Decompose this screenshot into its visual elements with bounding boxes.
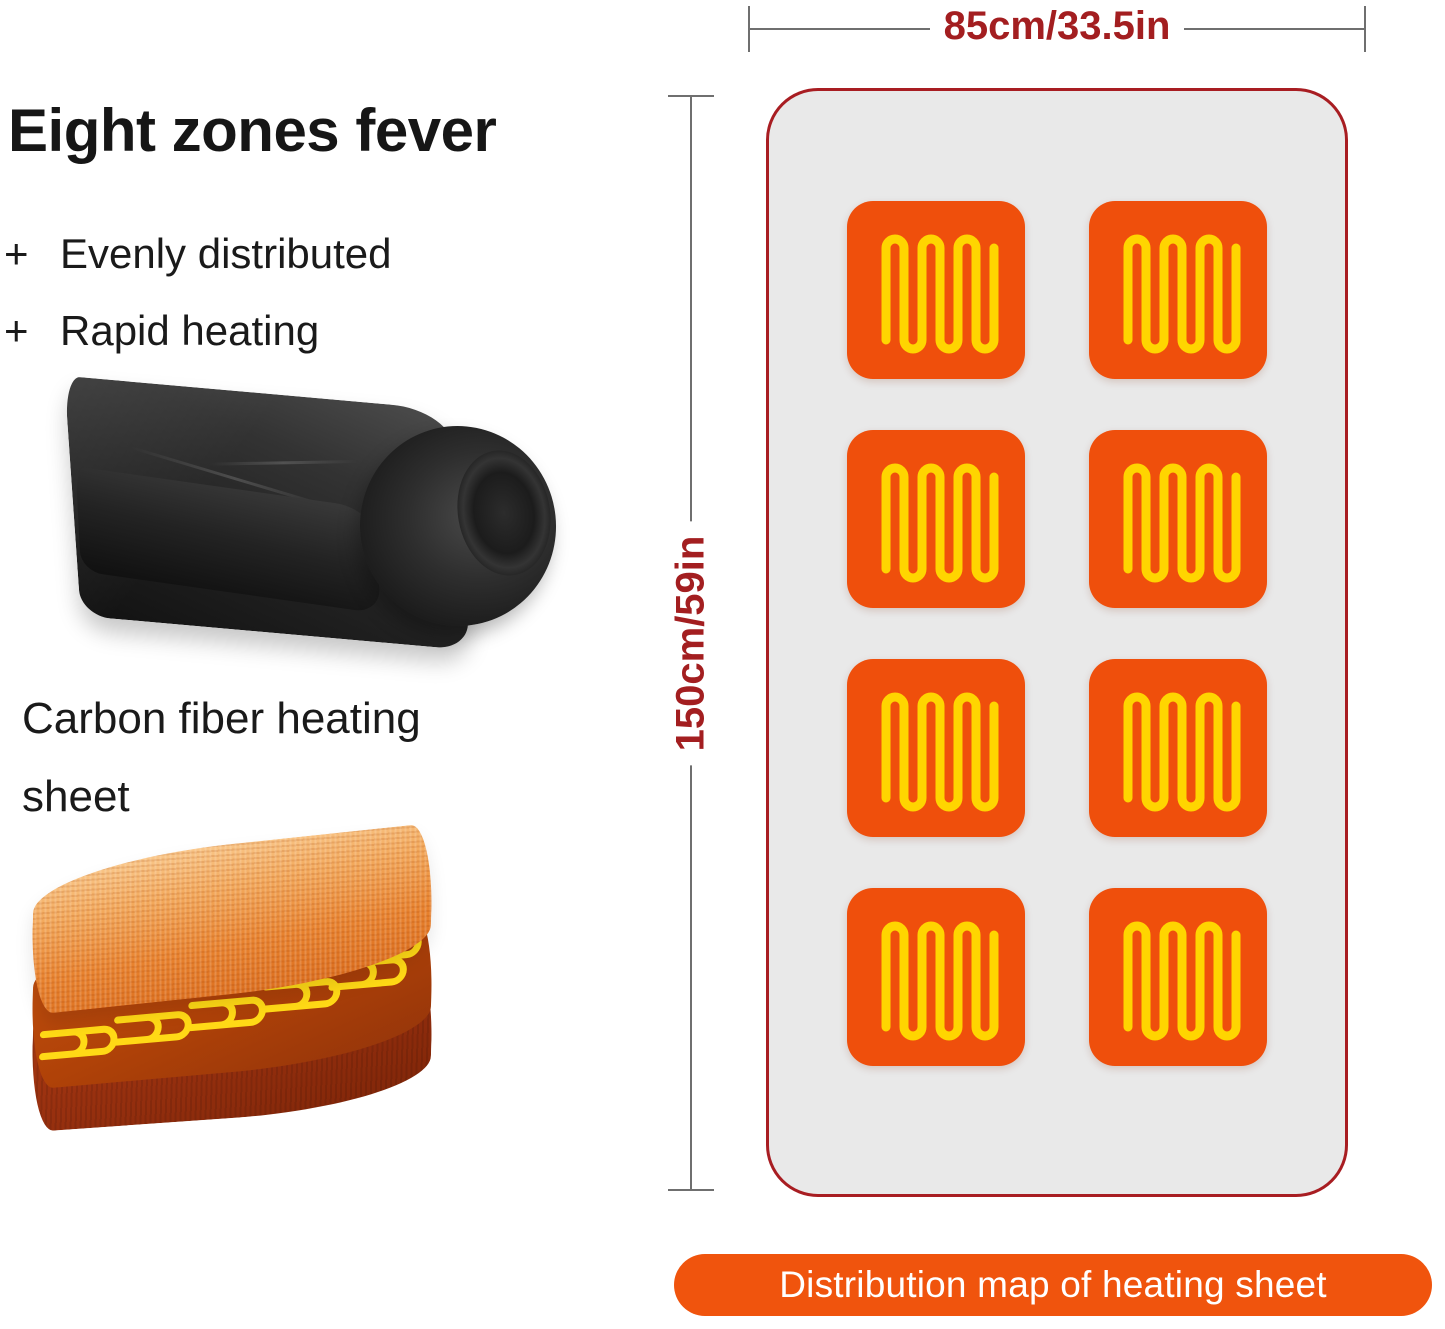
width-dimension-value: 85cm/33.5in (930, 4, 1185, 48)
feature-bullet-evenly-distributed: + Evenly distributed (4, 230, 392, 278)
heating-zone-grid (769, 91, 1345, 1194)
blanket-outline-panel (766, 88, 1348, 1197)
blanket-crease (209, 460, 357, 466)
carbon-fiber-layers-illustration (12, 836, 448, 1136)
heating-zone-pad (1089, 888, 1267, 1066)
heating-element-icon (1114, 226, 1242, 354)
section-subtitle-line-1: Carbon fiber heating (22, 694, 421, 744)
diagram-caption-pill: Distribution map of heating sheet (674, 1254, 1432, 1316)
heating-element-icon (1114, 913, 1242, 1041)
heating-zone-pad (1089, 430, 1267, 608)
heating-element-icon (872, 455, 1000, 583)
heating-element-icon (872, 913, 1000, 1041)
heating-zone-pad (1089, 659, 1267, 837)
width-dimension-label: 85cm/33.5in (748, 4, 1366, 49)
product-infographic: Eight zones fever + Evenly distributed +… (0, 0, 1445, 1329)
plus-icon: + (4, 230, 60, 278)
section-subtitle-line-2: sheet (22, 772, 130, 822)
heating-zone-pad (847, 659, 1025, 837)
heating-zone-pad (1089, 201, 1267, 379)
feature-label: Rapid heating (60, 307, 319, 355)
heating-zone-pad (847, 430, 1025, 608)
heating-zone-pad (847, 888, 1025, 1066)
height-dimension-value: 150cm/59in (669, 521, 714, 765)
blanket-product-photo (62, 372, 562, 664)
feature-label: Evenly distributed (60, 230, 392, 278)
heating-element-icon (1114, 684, 1242, 812)
page-title: Eight zones fever (8, 96, 496, 165)
feature-bullet-rapid-heating: + Rapid heating (4, 307, 319, 355)
heating-zone-pad (847, 201, 1025, 379)
height-dimension-label: 150cm/59in (690, 95, 692, 1191)
heating-element-icon (872, 226, 1000, 354)
heating-element-icon (1114, 455, 1242, 583)
heating-element-icon (872, 684, 1000, 812)
diagram-caption-text: Distribution map of heating sheet (779, 1264, 1327, 1306)
plus-icon: + (4, 307, 60, 355)
